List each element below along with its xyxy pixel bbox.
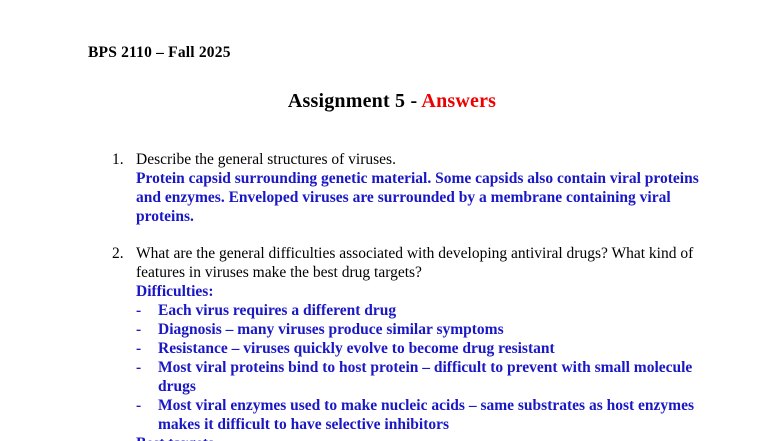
page-title: Assignment 5 - Answers	[0, 90, 784, 113]
course-header: BPS 2110 – Fall 2025	[88, 44, 231, 62]
answer-text-1: Protein capsid surrounding genetic mater…	[136, 169, 712, 226]
question-item-1: 1. Describe the general structures of vi…	[0, 150, 784, 226]
list-item-label: Each virus requires a different drug	[158, 302, 396, 319]
list-item: - Diagnosis – many viruses produce simil…	[136, 320, 712, 339]
question-number-1: 1.	[112, 150, 124, 169]
page-title-main: Assignment 5 -	[288, 90, 422, 112]
dash-bullet-icon: -	[136, 339, 141, 358]
page-title-highlight: Answers	[421, 90, 496, 112]
list-item: - Most viral enzymes used to make nuclei…	[136, 396, 712, 434]
best-targets-label: Best targets	[136, 434, 712, 441]
list-item-label: Most viral enzymes used to make nucleic …	[158, 397, 694, 433]
dash-bullet-icon: -	[136, 396, 141, 415]
question-list: 1. Describe the general structures of vi…	[0, 150, 784, 441]
question-text-2: What are the general difficulties associ…	[136, 244, 712, 282]
dash-bullet-icon: -	[136, 320, 141, 339]
dash-bullet-icon: -	[136, 358, 141, 377]
question-text-1: Describe the general structures of virus…	[136, 150, 712, 169]
question-number-2: 2.	[112, 244, 124, 263]
list-item-label: Most viral proteins bind to host protein…	[158, 359, 692, 395]
list-item: - Resistance – viruses quickly evolve to…	[136, 339, 712, 358]
question-item-2: 2. What are the general difficulties ass…	[0, 244, 784, 441]
list-item: - Most viral proteins bind to host prote…	[136, 358, 712, 396]
list-item-label: Resistance – viruses quickly evolve to b…	[158, 340, 555, 357]
difficulties-list: - Each virus requires a different drug -…	[136, 301, 712, 434]
answer-label-difficulties: Difficulties:	[136, 282, 712, 301]
list-item: - Each virus requires a different drug	[136, 301, 712, 320]
document-page: BPS 2110 – Fall 2025 Assignment 5 - Answ…	[0, 0, 784, 441]
list-item-label: Diagnosis – many viruses produce similar…	[158, 321, 504, 338]
dash-bullet-icon: -	[136, 301, 141, 320]
